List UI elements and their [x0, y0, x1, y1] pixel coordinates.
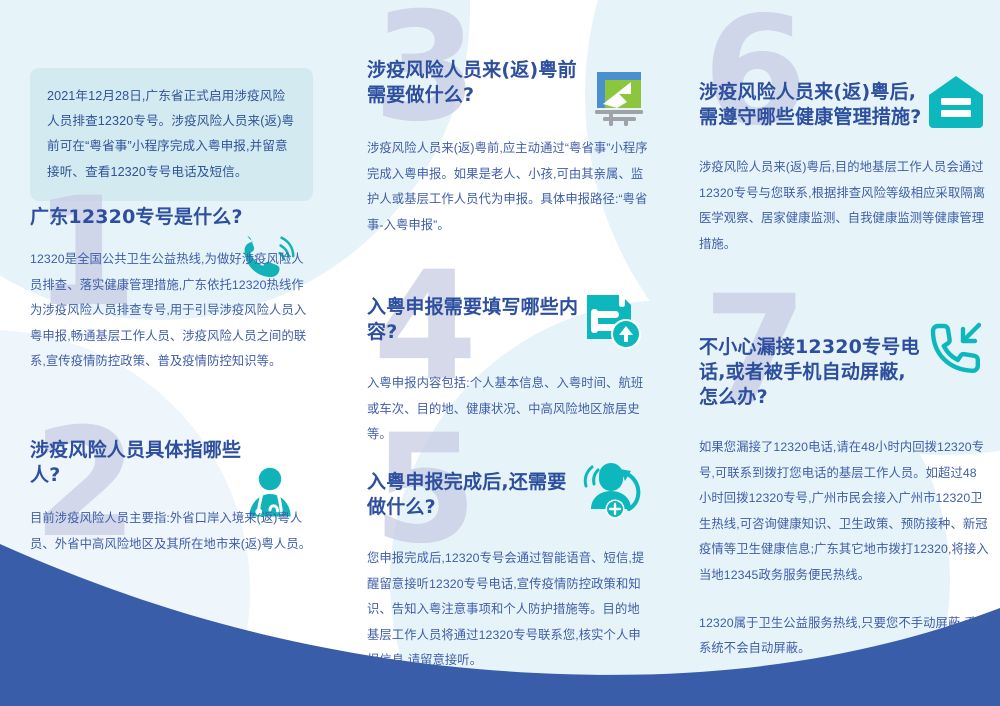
section-6-paragraph-1: 涉疫风险人员来(返)粤后,目的地基层工作人员会通过12320专号与您联系,根据排… — [699, 155, 989, 257]
section-2-title: 涉疫风险人员具体指哪些人? — [30, 438, 245, 488]
person-notify-icon — [575, 457, 647, 525]
column-right: 6 涉疫风险人员来(返)粤后,需遵守哪些健康管理措施? 涉疫风险人员来(返)粤后… — [675, 0, 1000, 706]
section-5-paragraph-1: 您申报完成后,12320专号会通过智能语音、短信,提醒留意接听12320专号电话… — [367, 546, 652, 674]
section-7-title: 不小心漏接12320专号电话,或者被手机自动屏蔽,怎么办? — [699, 335, 924, 410]
section-1-title: 广东12320专号是什么? — [30, 205, 280, 230]
section-6: 6 涉疫风险人员来(返)粤后,需遵守哪些健康管理措施? 涉疫风险人员来(返)粤后… — [699, 80, 989, 257]
column-middle: 3 涉疫风险人员来(返)粤前需要做什么? 涉疫风险人员来(返)粤前,应主动通过“… — [345, 0, 675, 706]
column-left: 2021年12月28日,广东省正式启用涉疫风险人员排查12320专号。涉疫风险人… — [0, 0, 345, 706]
section-1-paragraph-1: 12320是全国公共卫生公益热线,为做好涉疫风险人员排查、落实健康管理措施,广东… — [30, 247, 315, 375]
home-health-icon — [923, 72, 989, 138]
section-6-title: 涉疫风险人员来(返)粤后,需遵守哪些健康管理措施? — [699, 80, 929, 130]
missed-call-icon — [921, 317, 991, 387]
section-7: 7 不小心漏接12320专号电话,或者被手机自动屏蔽,怎么办? 如果您漏接了12… — [699, 335, 989, 662]
section-3-title: 涉疫风险人员来(返)粤前需要做什么? — [367, 58, 582, 108]
section-7-paragraph-1: 如果您漏接了12320电话,请在48小时内回拨12320专号,可联系到拨打您电话… — [699, 435, 989, 588]
infographic-poster: 2021年12月28日,广东省正式启用涉疫风险人员排查12320专号。涉疫风险人… — [0, 0, 1000, 706]
section-2: 2 涉疫风险人员具体指哪些人? 目前涉疫风险人员主要指:外省口岸入境来(返)粤人… — [30, 438, 315, 557]
section-1: 1 广东12320专号是什么? 12320是全国公共卫生公益热线,为做好涉疫风险… — [30, 205, 315, 375]
section-7-paragraph-2: 12320属于卫生公益服务热线,只要您不手动屏蔽,手机系统不会自动屏蔽。 — [699, 611, 989, 662]
yuesheng-shi-logo-icon — [583, 64, 651, 130]
section-3-paragraph-1: 涉疫风险人员来(返)粤前,应主动通过“粤省事”小程序完成入粤申报。如果是老人、小… — [367, 136, 652, 238]
section-5-title: 入粤申报完成后,还需要做什么? — [367, 470, 582, 520]
section-3: 3 涉疫风险人员来(返)粤前需要做什么? 涉疫风险人员来(返)粤前,应主动通过“… — [367, 58, 652, 238]
section-2-paragraph-1: 目前涉疫风险人员主要指:外省口岸入境来(返)粤人员、外省中高风险地区及其所在地市… — [30, 506, 315, 557]
section-5: 5 入粤申报完成后,还需要做什么? 您申报完成后,12320专号会通过智能语 — [367, 470, 652, 674]
section-4-title: 入粤申报需要填写哪些内容? — [367, 295, 592, 345]
